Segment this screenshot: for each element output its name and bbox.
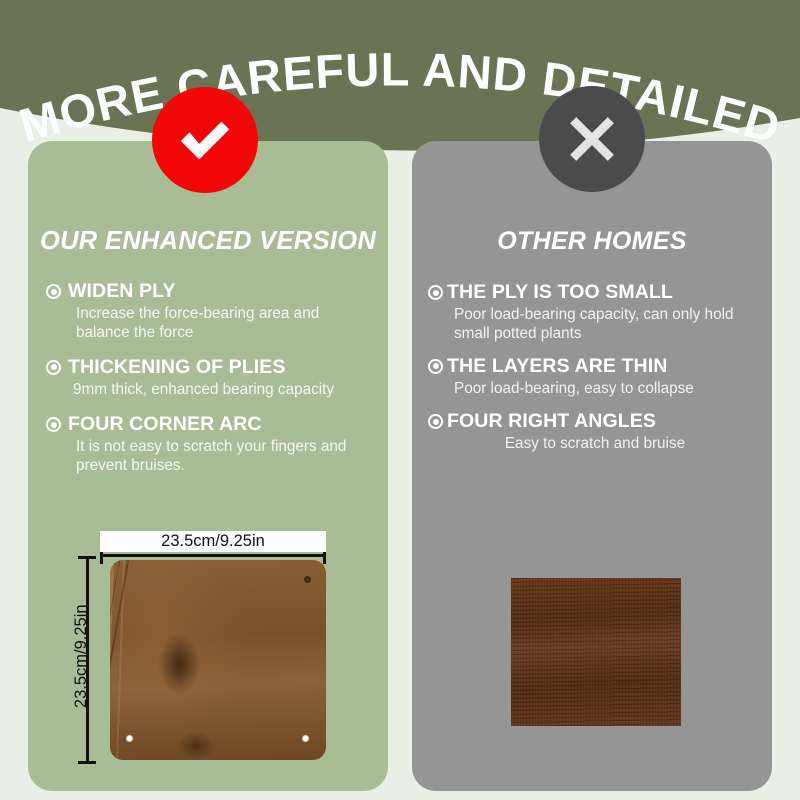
good-card-title: OUR ENHANCED VERSION xyxy=(28,227,388,256)
feature-description: It is not easy to scratch your fingers a… xyxy=(46,438,374,475)
feature-heading-row: THE PLY IS TOO SMALL xyxy=(428,281,762,303)
feature-item: THE LAYERS ARE THIN Poor load-bearing, e… xyxy=(428,355,762,399)
screw-hole xyxy=(304,576,311,583)
feature-description: Increase the force-bearing area and bala… xyxy=(46,305,374,342)
feature-heading-row: THICKENING OF PLIES xyxy=(46,356,374,378)
rounded-corner-wood-board-image xyxy=(110,560,326,760)
feature-description: Easy to scratch and bruise xyxy=(428,435,762,454)
bad-card-title: OTHER HOMES xyxy=(412,227,772,256)
good-badge xyxy=(152,87,258,193)
screw-hole xyxy=(126,735,133,742)
feature-heading: THE LAYERS ARE THIN xyxy=(447,355,667,377)
width-dimension-label: 23.5cm/9.25in xyxy=(100,531,326,552)
feature-item: FOUR RIGHT ANGLES Easy to scratch and br… xyxy=(428,410,762,454)
feature-heading: WIDEN PLY xyxy=(68,280,175,302)
check-icon xyxy=(174,109,236,171)
height-dimension: 23.5cm/9.25in xyxy=(64,556,98,764)
dimension-cap xyxy=(78,761,96,764)
bullet-icon xyxy=(428,414,443,429)
bullet-icon xyxy=(46,417,61,432)
feature-item: THE PLY IS TOO SMALL Poor load-bearing c… xyxy=(428,281,762,344)
width-dimension: 23.5cm/9.25in xyxy=(100,533,326,563)
feature-item: FOUR CORNER ARC It is not easy to scratc… xyxy=(46,413,374,476)
feature-heading: FOUR CORNER ARC xyxy=(68,413,262,435)
bullet-icon xyxy=(428,285,443,300)
page-title: MORE CAREFUL AND DETAILED xyxy=(14,42,787,153)
feature-description: 9mm thick, enhanced bearing capacity xyxy=(46,381,374,400)
screw-hole xyxy=(302,735,309,742)
dimension-line xyxy=(100,554,326,557)
feature-heading: FOUR RIGHT ANGLES xyxy=(447,410,656,432)
feature-heading-row: WIDEN PLY xyxy=(46,280,374,302)
bad-badge xyxy=(539,86,645,192)
feature-item: WIDEN PLY Increase the force-bearing are… xyxy=(46,280,374,343)
right-angle-wood-sample-image xyxy=(511,578,681,726)
feature-heading-row: THE LAYERS ARE THIN xyxy=(428,355,762,377)
feature-item: THICKENING OF PLIES 9mm thick, enhanced … xyxy=(46,356,374,400)
good-feature-list: WIDEN PLY Increase the force-bearing are… xyxy=(28,280,388,476)
bullet-icon xyxy=(46,360,61,375)
feature-heading-row: FOUR CORNER ARC xyxy=(46,413,374,435)
feature-heading-row: FOUR RIGHT ANGLES xyxy=(428,410,762,432)
feature-heading: THE PLY IS TOO SMALL xyxy=(447,281,673,303)
feature-heading: THICKENING OF PLIES xyxy=(68,356,286,378)
feature-description: Poor load-bearing capacity, can only hol… xyxy=(428,306,762,343)
header-band-shape xyxy=(0,0,800,151)
bullet-icon xyxy=(428,359,443,374)
feature-description: Poor load-bearing, easy to collapse xyxy=(428,380,762,399)
bad-feature-list: THE PLY IS TOO SMALL Poor load-bearing c… xyxy=(412,281,772,454)
cross-icon xyxy=(564,111,620,167)
height-dimension-label: 23.5cm/9.25in xyxy=(73,552,90,760)
bullet-icon xyxy=(46,284,61,299)
